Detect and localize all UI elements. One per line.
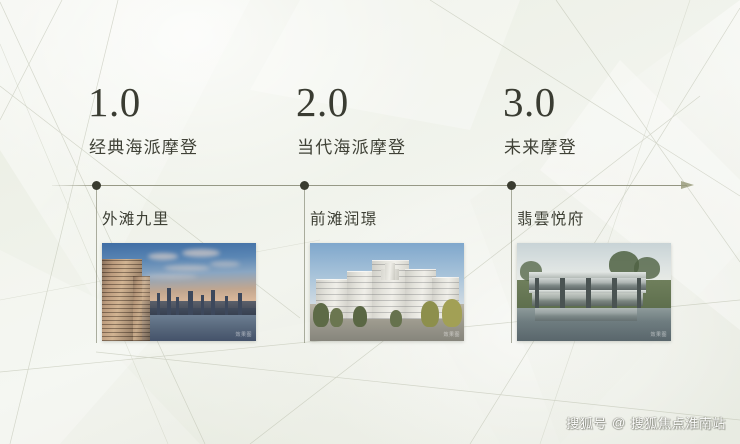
timeline-milestone-1[interactable]: 1.0 经典海派摩登 外滩九里 <box>88 0 293 444</box>
watermark-account: 搜狐焦点淮南站 <box>631 413 726 432</box>
milestone-project-name: 外滩九里 <box>102 212 170 228</box>
slide-canvas: 1.0 经典海派摩登 外滩九里 <box>0 0 740 444</box>
timeline-milestone-3[interactable]: 3.0 未来摩登 翡雲悦府 <box>503 0 708 444</box>
timeline-node-stem <box>304 190 305 343</box>
photo-watermark: 效果图 <box>443 331 460 338</box>
timeline-milestone-2[interactable]: 2.0 当代海派摩登 前滩润璟 效果图 <box>296 0 501 444</box>
photo-watermark: 效果图 <box>650 331 667 338</box>
milestone-photo[interactable]: 效果图 <box>517 243 671 341</box>
milestone-era-label: 未来摩登 <box>504 139 577 156</box>
timeline-node-stem <box>96 190 97 343</box>
sohu-watermark: 搜狐号 @ 搜狐焦点淮南站 <box>566 413 726 432</box>
timeline-node-dot <box>300 181 309 190</box>
photo-scene-riverside-dusk <box>102 243 256 341</box>
milestone-era-label: 经典海派摩登 <box>89 139 198 156</box>
watermark-separator: @ <box>612 415 626 430</box>
photo-watermark: 效果图 <box>235 331 252 338</box>
timeline-node-dot <box>92 181 101 190</box>
milestone-era-label: 当代海派摩登 <box>297 139 406 156</box>
timeline-node-stem <box>511 190 512 343</box>
milestone-version: 1.0 <box>88 82 141 123</box>
milestone-photo[interactable]: 效果图 <box>102 243 256 341</box>
photo-scene-artdeco-complex <box>310 243 464 341</box>
milestone-version: 3.0 <box>503 82 556 123</box>
milestone-project-name: 前滩润璟 <box>310 212 378 228</box>
milestone-project-name: 翡雲悦府 <box>517 212 585 228</box>
photo-scene-modern-villa-pool <box>517 243 671 341</box>
watermark-prefix: 搜狐号 <box>566 413 607 432</box>
milestone-version: 2.0 <box>296 82 349 123</box>
milestone-photo[interactable]: 效果图 <box>310 243 464 341</box>
timeline-node-dot <box>507 181 516 190</box>
